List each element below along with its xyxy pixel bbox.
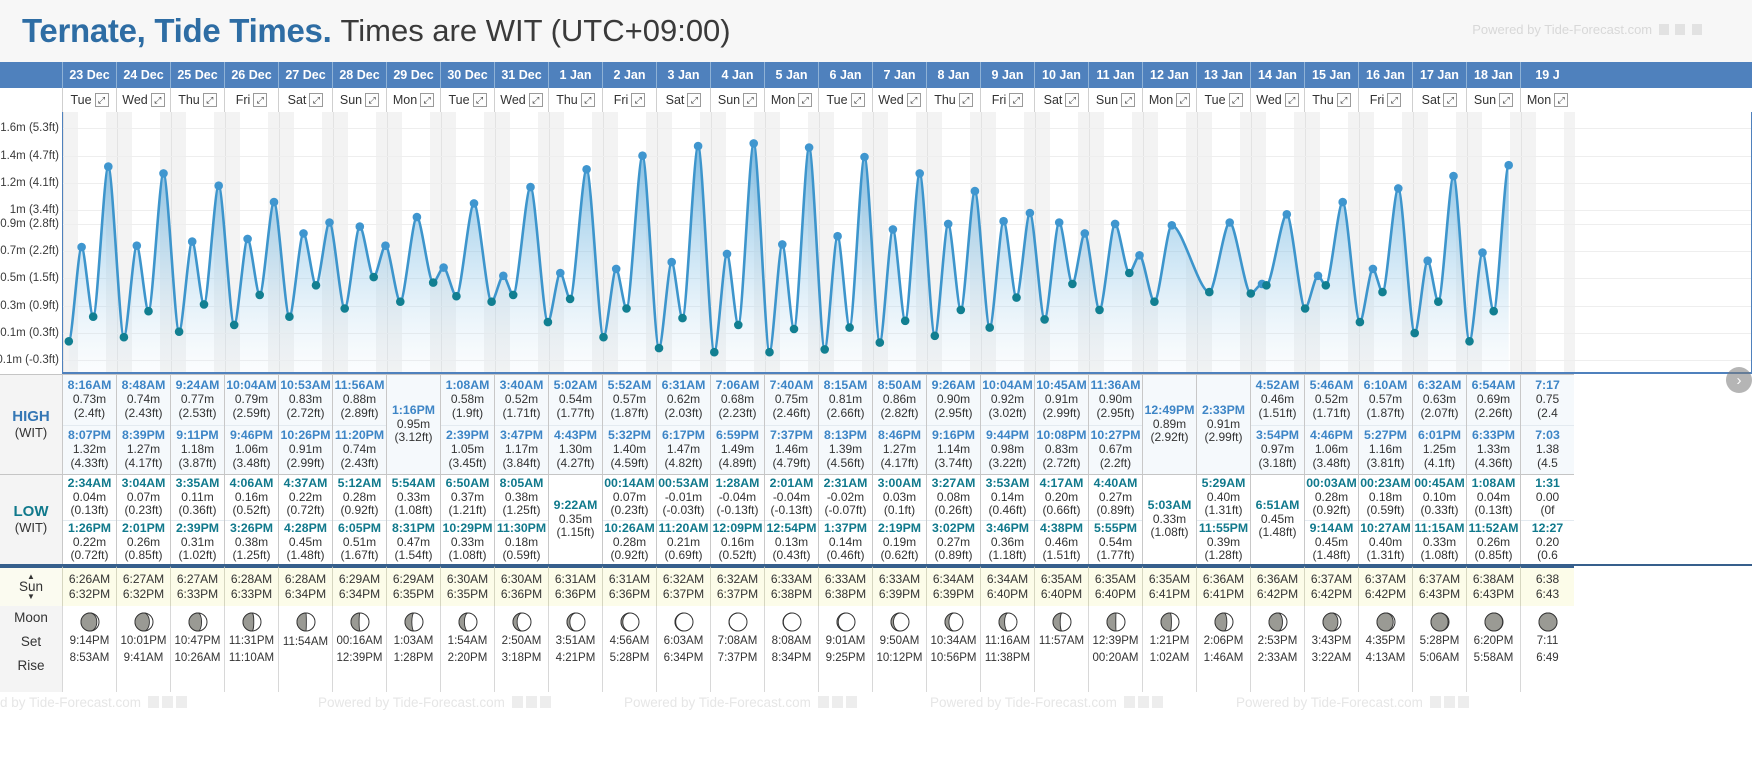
tide-time: 1:37PM: [824, 522, 867, 536]
sunrise-time: 6:33AM: [825, 572, 866, 587]
expand-icon[interactable]: ⤢: [1387, 93, 1401, 107]
tide-feet: (3.45ft): [448, 457, 486, 470]
moonset-time: 4:35PM: [1366, 634, 1406, 650]
powered-by-footer-2: Powered by Tide-Forecast.com: [318, 695, 551, 710]
tide-meters: 0.07m: [613, 491, 646, 504]
moonrise-time: 4:21PM: [556, 651, 596, 667]
tide-feet: (0.52ft): [232, 504, 270, 517]
sunset-time: 6:40PM: [987, 587, 1028, 602]
tide-time: 11:15AM: [1415, 522, 1465, 536]
tide-time: 12:49PM: [1145, 404, 1195, 418]
tide-feet: (2.03ft): [664, 407, 702, 420]
moonrise-time: 6:34PM: [664, 651, 704, 667]
tide-time: 3:53AM: [986, 477, 1030, 491]
moonset-time: 7:08AM: [718, 634, 758, 650]
tide-entry: 4:46PM1.06m(3.48ft): [1305, 425, 1358, 475]
moon-phase-icon: [997, 611, 1019, 633]
tide-meters: 1.32m: [73, 443, 106, 456]
tide-feet: (0.46ft): [988, 504, 1026, 517]
sun-cell: 6:32AM6:37PM: [710, 566, 764, 606]
tide-feet: (2.72ft): [1042, 457, 1080, 470]
moonrise-time: 5:58AM: [1474, 651, 1514, 667]
high-tide-cell: 6:10AM0.57m(1.87ft)5:27PM1.16m(3.81ft): [1358, 374, 1412, 474]
tide-meters: 1.49m: [721, 443, 754, 456]
moonrise-time: 11:38PM: [985, 651, 1030, 667]
tide-entry: 3:35AM0.11m(0.36ft): [171, 475, 224, 520]
low-tide-cell: 3:00AM0.03m(0.1ft)2:19PM0.19m(0.62ft): [872, 474, 926, 564]
date-header-cell[interactable]: 19 J: [1520, 62, 1574, 88]
moon-cell: 11:54AM: [278, 606, 332, 692]
high-tide-cell: 10:04AM0.92m(3.02ft)9:44PM0.98m(3.22ft): [980, 374, 1034, 474]
high-tide-cell: 8:16AM0.73m(2.4ft)8:07PM1.32m(4.33ft): [62, 374, 116, 474]
dow-label: Fri: [236, 93, 251, 107]
dow-label: Mon: [393, 93, 417, 107]
date-header-cell[interactable]: 28 Dec: [332, 62, 386, 88]
tide-feet: (1.08ft): [1150, 526, 1188, 539]
moon-phase-icon: [943, 611, 965, 633]
low-tide-cell: 5:29AM0.40m(1.31ft)11:55PM0.39m(1.28ft): [1196, 474, 1250, 564]
tide-time: 11:52AM: [1469, 522, 1519, 536]
sun-cell: 6:31AM6:36PM: [602, 566, 656, 606]
sunrise-time: 6:36AM: [1203, 572, 1244, 587]
sunset-time: 6:43PM: [1419, 587, 1460, 602]
date-header-cell[interactable]: 17 Jan: [1412, 62, 1466, 88]
moon-cell: 2:06PM1:46AM: [1196, 606, 1250, 692]
tide-entry: 8:07PM1.32m(4.33ft): [63, 425, 116, 475]
expand-icon[interactable]: ⤢: [687, 93, 701, 107]
sunrise-time: 6:31AM: [609, 572, 650, 587]
moon-phase-icon: [349, 611, 371, 633]
tide-feet: (1.48ft): [1312, 549, 1350, 562]
moon-cell: 7:116:49: [1520, 606, 1574, 692]
moonset-time: 2:06PM: [1204, 634, 1244, 650]
sunrise-time: 6:32AM: [663, 572, 704, 587]
dow-label: Thu: [556, 93, 578, 107]
high-tide-cell: 8:15AM0.81m(2.66ft)8:13PM1.39m(4.56ft): [818, 374, 872, 474]
date-header-cell[interactable]: 8 Jan: [926, 62, 980, 88]
tide-time: 3:27AM: [932, 477, 976, 491]
tide-feet: (4.82ft): [664, 457, 702, 470]
high-tide-cell: 10:53AM0.83m(2.72ft)10:26PM0.91m(2.99ft): [278, 374, 332, 474]
moon-cell: 4:35PM4:13AM: [1358, 606, 1412, 692]
moonrise-time: 7:37PM: [718, 651, 758, 667]
tide-feet: (2.23ft): [718, 407, 756, 420]
tide-feet: (1.31ft): [1366, 549, 1404, 562]
date-header-cell[interactable]: 30 Dec: [440, 62, 494, 88]
tide-meters: 0.54m: [559, 393, 592, 406]
tide-entry: 6:59PM1.49m(4.89ft): [711, 425, 764, 475]
powered-by-footer-1: d by Tide-Forecast.com: [0, 695, 187, 710]
expand-icon[interactable]: ⤢: [851, 93, 865, 107]
tide-time: 1:28AM: [716, 477, 760, 491]
date-header-cell[interactable]: 5 Jan: [764, 62, 818, 88]
low-tide-cell: 1:310.00(0f12:270.20(0.6: [1520, 474, 1574, 564]
low-tide-cell: 5:54AM0.33m(1.08ft)8:31PM0.47m(1.54ft): [386, 474, 440, 564]
dow-label: Tue: [70, 93, 91, 107]
tide-meters: -0.01m: [665, 491, 702, 504]
tide-meters: 0.91m: [289, 443, 322, 456]
tide-feet: (2.46ft): [772, 407, 810, 420]
date-header-cell[interactable]: 14 Jan: [1250, 62, 1304, 88]
tide-entry: 5:27PM1.16m(3.81ft): [1359, 425, 1412, 475]
tide-meters: 0.28m: [1315, 491, 1348, 504]
tide-feet: (0.85ft): [1474, 549, 1512, 562]
moon-phase-icon: [835, 611, 857, 633]
expand-icon[interactable]: ⤢: [631, 93, 645, 107]
expand-icon[interactable]: ⤢: [1554, 93, 1568, 107]
dow-header-cell: Sat⤢: [656, 88, 710, 112]
tide-feet: (3.48ft): [1312, 457, 1350, 470]
tide-feet: (0.62ft): [880, 549, 918, 562]
date-header-cell[interactable]: 9 Jan: [980, 62, 1034, 88]
tide-entry: 1:08AM0.58m(1.9ft): [441, 375, 494, 425]
high-tide-cell: 5:46AM0.52m(1.71ft)4:46PM1.06m(3.48ft): [1304, 374, 1358, 474]
tide-entry: 6:50AM0.37m(1.21ft): [441, 475, 494, 520]
tide-entry: 5:54AM0.33m(1.08ft): [387, 475, 440, 520]
expand-icon[interactable]: ⤢: [151, 93, 165, 107]
date-header-cell[interactable]: 23 Dec: [62, 62, 116, 88]
low-tide-cell: 5:03AM0.33m(1.08ft): [1142, 474, 1196, 564]
moon-phase-icon: [1159, 611, 1181, 633]
sunset-time: 6:34PM: [339, 587, 380, 602]
tide-meters: 0.54m: [1099, 536, 1132, 549]
expand-icon[interactable]: ⤢: [253, 93, 267, 107]
tide-time: 5:27PM: [1364, 429, 1407, 443]
low-tide-cell: 2:34AM0.04m(0.13ft)1:26PM0.22m(0.72ft): [62, 474, 116, 564]
date-header-cell[interactable]: 26 Dec: [224, 62, 278, 88]
sunset-time: 6:38PM: [771, 587, 812, 602]
dow-header-row: Tue⤢Wed⤢Thu⤢Fri⤢Sat⤢Sun⤢Mon⤢Tue⤢Wed⤢Thu⤢…: [0, 88, 1752, 112]
tide-entry: 6:31AM0.62m(2.03ft): [657, 375, 710, 425]
date-header-cell[interactable]: 29 Dec: [386, 62, 440, 88]
sunset-time: 6:43: [1536, 587, 1559, 602]
moon-phase-icon: [511, 611, 533, 633]
tide-entry: 11:20PM0.74m(2.43ft): [333, 425, 386, 475]
expand-icon[interactable]: ⤢: [473, 93, 487, 107]
tide-feet: (-0.07ft): [824, 504, 866, 517]
expand-icon[interactable]: ⤢: [907, 93, 921, 107]
tide-meters: 0.83m: [289, 393, 322, 406]
tide-time: 4:43PM: [554, 429, 597, 443]
tide-entry: 5:02AM0.54m(1.77ft): [549, 375, 602, 425]
tide-entry: 8:05AM0.38m(1.25ft): [495, 475, 548, 520]
sunset-time: 6:39PM: [879, 587, 920, 602]
sun-cell: 6:34AM6:39PM: [926, 566, 980, 606]
tide-meters: 0.63m: [1423, 393, 1456, 406]
moon-cell: 2:53PM2:33AM: [1250, 606, 1304, 692]
tide-chart-row: 1.6m (5.3ft)1.4m (4.7ft)1.2m (4.1ft)1m (…: [0, 112, 1752, 374]
moon-cell: 11:57AM: [1034, 606, 1088, 692]
scroll-right-handle[interactable]: ›: [1726, 367, 1752, 393]
sun-cell: 6:33AM6:38PM: [818, 566, 872, 606]
expand-icon[interactable]: ⤢: [1337, 93, 1351, 107]
tide-entry: 5:52AM0.57m(1.87ft): [603, 375, 656, 425]
tide-meters: 0.90m: [1099, 393, 1132, 406]
date-header-cell[interactable]: 31 Dec: [494, 62, 548, 88]
tide-entry: 5:12AM0.28m(0.92ft): [333, 475, 386, 520]
sunset-arrow-icon: ▼: [27, 594, 35, 600]
moonrise-time: 9:25PM: [826, 651, 866, 667]
expand-icon[interactable]: ⤢: [1443, 93, 1457, 107]
expand-icon[interactable]: ⤢: [1121, 93, 1135, 107]
moon-phase-icon: [295, 611, 317, 633]
tide-time: 00:23AM: [1360, 477, 1411, 491]
tide-meters: 0.18m: [505, 536, 538, 549]
moon-phase-icon: [1213, 611, 1235, 633]
tide-time: 11:20AM: [659, 522, 709, 536]
sunrise-time: 6:37AM: [1365, 572, 1406, 587]
date-header-cell[interactable]: 15 Jan: [1304, 62, 1358, 88]
moonset-time: 3:43PM: [1312, 634, 1352, 650]
tide-time: 5:03AM: [1148, 499, 1192, 513]
high-tide-cell: 7:170.75(2.47:031.38(4.5: [1520, 374, 1574, 474]
tide-feet: (3.81ft): [1366, 457, 1404, 470]
moonrise-time: 10:12PM: [876, 651, 922, 667]
tide-entry: 7:06AM0.68m(2.23ft): [711, 375, 764, 425]
tide-time: 11:56AM: [335, 379, 385, 393]
tide-time: 8:31PM: [392, 522, 435, 536]
sun-cell: 6:30AM6:35PM: [440, 566, 494, 606]
date-header-cell[interactable]: 13 Jan: [1196, 62, 1250, 88]
tide-feet: (0.13ft): [70, 504, 108, 517]
tide-feet: (0.92ft): [610, 549, 648, 562]
expand-icon[interactable]: ⤢: [581, 93, 595, 107]
date-header-cell[interactable]: 25 Dec: [170, 62, 224, 88]
dow-header-cell: Tue⤢: [1196, 88, 1250, 112]
tide-feet: (2.07ft): [1420, 407, 1458, 420]
tide-meters: 0.90m: [937, 393, 970, 406]
dow-label: Thu: [934, 93, 956, 107]
tide-meters: 0.26m: [127, 536, 160, 549]
tide-time: 1:26PM: [68, 522, 111, 536]
high-tide-cell: 12:49PM0.89m(2.92ft): [1142, 374, 1196, 474]
tide-time: 2:01AM: [770, 477, 814, 491]
dow-header-cell: Thu⤢: [170, 88, 224, 112]
moon-cell: 7:08AM7:37PM: [710, 606, 764, 692]
date-header-cell[interactable]: 4 Jan: [710, 62, 764, 88]
date-header-cell[interactable]: 18 Jan: [1466, 62, 1520, 88]
dow-header-cell: Sun⤢: [1466, 88, 1520, 112]
moonset-time: 8:08AM: [772, 634, 812, 650]
moonset-time: 11:31PM: [229, 634, 274, 650]
expand-icon[interactable]: ⤢: [365, 93, 379, 107]
sunset-time: 6:40PM: [1095, 587, 1136, 602]
date-header-cell[interactable]: 16 Jan: [1358, 62, 1412, 88]
date-header-cell[interactable]: 6 Jan: [818, 62, 872, 88]
tide-time: 6:31AM: [662, 379, 706, 393]
tide-meters: 0.40m: [1207, 491, 1240, 504]
expand-icon[interactable]: ⤢: [959, 93, 973, 107]
dow-header-cell: Tue⤢: [440, 88, 494, 112]
moon-phase-icon: [1483, 611, 1505, 633]
date-header-cell[interactable]: 12 Jan: [1142, 62, 1196, 88]
sunset-time: 6:36PM: [609, 587, 650, 602]
tide-entry: 4:28PM0.45m(1.48ft): [279, 520, 332, 565]
tide-time: 5:55PM: [1094, 522, 1137, 536]
dow-header-cell: Thu⤢: [548, 88, 602, 112]
tide-feet: (1.67ft): [340, 549, 378, 562]
tide-feet: (4.33ft): [70, 457, 108, 470]
tide-time: 7:03: [1535, 429, 1560, 443]
expand-icon[interactable]: ⤢: [529, 93, 543, 107]
dow-label: Sun: [718, 93, 740, 107]
tide-time: 3:00AM: [878, 477, 922, 491]
date-header-cell[interactable]: 24 Dec: [116, 62, 170, 88]
moonset-time: 3:51AM: [556, 634, 596, 650]
dow-header-cell: Sun⤢: [1088, 88, 1142, 112]
tide-time: 10:04AM: [982, 379, 1033, 393]
tide-entry: 3:27AM0.08m(0.26ft): [927, 475, 980, 520]
expand-icon[interactable]: ⤢: [1065, 93, 1079, 107]
dow-label: Wed: [122, 93, 147, 107]
date-header-cell[interactable]: 10 Jan: [1034, 62, 1088, 88]
tide-feet: (3.22ft): [988, 457, 1026, 470]
tide-meters: 1.25m: [1423, 443, 1456, 456]
sunrise-time: 6:34AM: [933, 572, 974, 587]
moonrise-time: 3:22AM: [1312, 651, 1352, 667]
tide-entry: 8:46PM1.27m(4.17ft): [873, 425, 926, 475]
tide-meters: 0.39m: [1207, 536, 1240, 549]
sunset-time: 6:42PM: [1365, 587, 1406, 602]
high-tide-cell: 7:06AM0.68m(2.23ft)6:59PM1.49m(4.89ft): [710, 374, 764, 474]
tide-entry: 9:22AM0.35m(1.15ft): [549, 475, 602, 564]
moonrise-time: 3:18PM: [502, 651, 542, 667]
tide-meters: 0.26m: [1477, 536, 1510, 549]
date-header-cell[interactable]: 2 Jan: [602, 62, 656, 88]
dow-label: Tue: [448, 93, 469, 107]
tide-entry: 8:39PM1.27m(4.17ft): [117, 425, 170, 475]
moon-cell: 5:28PM5:06AM: [1412, 606, 1466, 692]
moon-phase-icon: [1375, 611, 1397, 633]
dow-label: Mon: [1527, 93, 1551, 107]
tide-entry: 1:310.00(0f: [1521, 475, 1574, 520]
tide-meters: 0.22m: [289, 491, 322, 504]
moonset-time: 6:20PM: [1474, 634, 1514, 650]
sunrise-time: 6:37AM: [1311, 572, 1352, 587]
moonset-time: 2:53PM: [1258, 634, 1298, 650]
date-header-cell[interactable]: 1 Jan: [548, 62, 602, 88]
tide-feet: (1.08ft): [448, 549, 486, 562]
sunrise-time: 6:28AM: [231, 572, 272, 587]
high-tide-cell: 10:45AM0.91m(2.99ft)10:08PM0.83m(2.72ft): [1034, 374, 1088, 474]
moonrise-time: 5:06AM: [1420, 651, 1460, 667]
sunrise-time: 6:32AM: [717, 572, 758, 587]
tide-feet: (3.87ft): [178, 457, 216, 470]
tide-entry: 10:08PM0.83m(2.72ft): [1035, 425, 1088, 475]
expand-icon[interactable]: ⤢: [1285, 93, 1299, 107]
tide-meters: 0.86m: [883, 393, 916, 406]
tide-entry: 6:10AM0.57m(1.87ft): [1359, 375, 1412, 425]
tide-meters: 0.38m: [505, 491, 538, 504]
dow-header-cell: Mon⤢: [386, 88, 440, 112]
tide-entry: 7:170.75(2.4: [1521, 375, 1574, 425]
tide-feet: (1.15ft): [556, 526, 594, 539]
moonset-time: 7:11: [1537, 634, 1559, 650]
date-header-spacer: [0, 62, 62, 88]
expand-icon[interactable]: ⤢: [309, 93, 323, 107]
tide-entry: 8:31PM0.47m(1.54ft): [387, 520, 440, 565]
high-tide-label: HIGH (WIT): [0, 374, 62, 474]
expand-icon[interactable]: ⤢: [743, 93, 757, 107]
tide-feet: (2.95ft): [934, 407, 972, 420]
moon-cell: 10:01PM9:41AM: [116, 606, 170, 692]
tide-feet: (4.27ft): [556, 457, 594, 470]
tide-feet: (1.77ft): [556, 407, 594, 420]
tide-meters: 0.52m: [1315, 393, 1348, 406]
tide-entry: 10:04AM0.79m(2.59ft): [225, 375, 278, 425]
moon-phase-icon: [781, 611, 803, 633]
sunset-time: 6:43PM: [1473, 587, 1514, 602]
tide-entry: 7:40AM0.75m(2.46ft): [765, 375, 818, 425]
low-tide-cell: 3:27AM0.08m(0.26ft)3:02PM0.27m(0.89ft): [926, 474, 980, 564]
date-header-cell[interactable]: 27 Dec: [278, 62, 332, 88]
high-tide-cell: 6:54AM0.69m(2.26ft)6:33PM1.33m(4.36ft): [1466, 374, 1520, 474]
tide-entry: 4:06AM0.16m(0.52ft): [225, 475, 278, 520]
expand-icon[interactable]: ⤢: [1229, 93, 1243, 107]
moon-row: Moon Set Rise 9:14PM8:53AM10:01PM9:41AM1…: [0, 606, 1752, 692]
tide-feet: (0.72ft): [286, 504, 324, 517]
expand-icon[interactable]: ⤢: [95, 93, 109, 107]
sunrise-time: 6:30AM: [447, 572, 488, 587]
tide-chart[interactable]: [62, 112, 1752, 374]
expand-icon[interactable]: ⤢: [203, 93, 217, 107]
y-axis-tick: 1.6m (5.3ft): [0, 122, 59, 134]
tide-feet: (2.99ft): [1204, 431, 1242, 444]
dow-header-cell: Fri⤢: [980, 88, 1034, 112]
refresh-icon-3: [526, 696, 537, 708]
tide-entry: 8:50AM0.86m(2.82ft): [873, 375, 926, 425]
moonset-time: 00:16AM: [336, 634, 382, 650]
tide-feet: (2.92ft): [1150, 431, 1188, 444]
tide-time: 9:22AM: [554, 499, 598, 513]
tide-feet: (0.23ft): [124, 504, 162, 517]
moon-cell: 2:50AM3:18PM: [494, 606, 548, 692]
tide-time: 6:05PM: [338, 522, 381, 536]
tide-time: 1:16PM: [392, 404, 435, 418]
tide-time: 8:05AM: [500, 477, 544, 491]
expand-icon[interactable]: ⤢: [1499, 93, 1513, 107]
sun-cell: 6:35AM6:40PM: [1088, 566, 1142, 606]
moonrise-time: 4:13AM: [1366, 651, 1406, 667]
tide-entry: 3:40AM0.52m(1.71ft): [495, 375, 548, 425]
expand-icon[interactable]: ⤢: [798, 93, 812, 107]
tide-time: 3:40AM: [500, 379, 544, 393]
tide-meters: 1.39m: [829, 443, 862, 456]
tide-time: 8:50AM: [878, 379, 922, 393]
tide-entry: 2:31AM-0.02m(-0.07ft): [819, 475, 872, 520]
sunset-time: 6:37PM: [663, 587, 704, 602]
expand-icon[interactable]: ⤢: [420, 93, 434, 107]
moon-phase-icon: [1429, 611, 1451, 633]
expand-icon[interactable]: ⤢: [1176, 93, 1190, 107]
date-header-cell[interactable]: 7 Jan: [872, 62, 926, 88]
tide-meters: 0.74m: [343, 443, 376, 456]
tide-feet: (1.08ft): [1420, 549, 1458, 562]
date-header-cell[interactable]: 11 Jan: [1088, 62, 1142, 88]
moonset-time: 5:28PM: [1420, 634, 1460, 650]
tide-time: 12:27: [1532, 522, 1563, 536]
low-tide-cell: 4:37AM0.22m(0.72ft)4:28PM0.45m(1.48ft): [278, 474, 332, 564]
tide-time: 10:53AM: [280, 379, 331, 393]
high-tide-cell: 6:31AM0.62m(2.03ft)6:17PM1.47m(4.82ft): [656, 374, 710, 474]
tide-entry: 12:270.20(0.6: [1521, 520, 1574, 565]
tide-entry: 10:27AM0.40m(1.31ft): [1359, 520, 1412, 565]
expand-icon[interactable]: ⤢: [1009, 93, 1023, 107]
sunrise-time: 6:29AM: [393, 572, 434, 587]
date-header-cell[interactable]: 3 Jan: [656, 62, 710, 88]
tide-feet: (0.6: [1537, 549, 1558, 562]
moonset-time: 6:03AM: [664, 634, 704, 650]
